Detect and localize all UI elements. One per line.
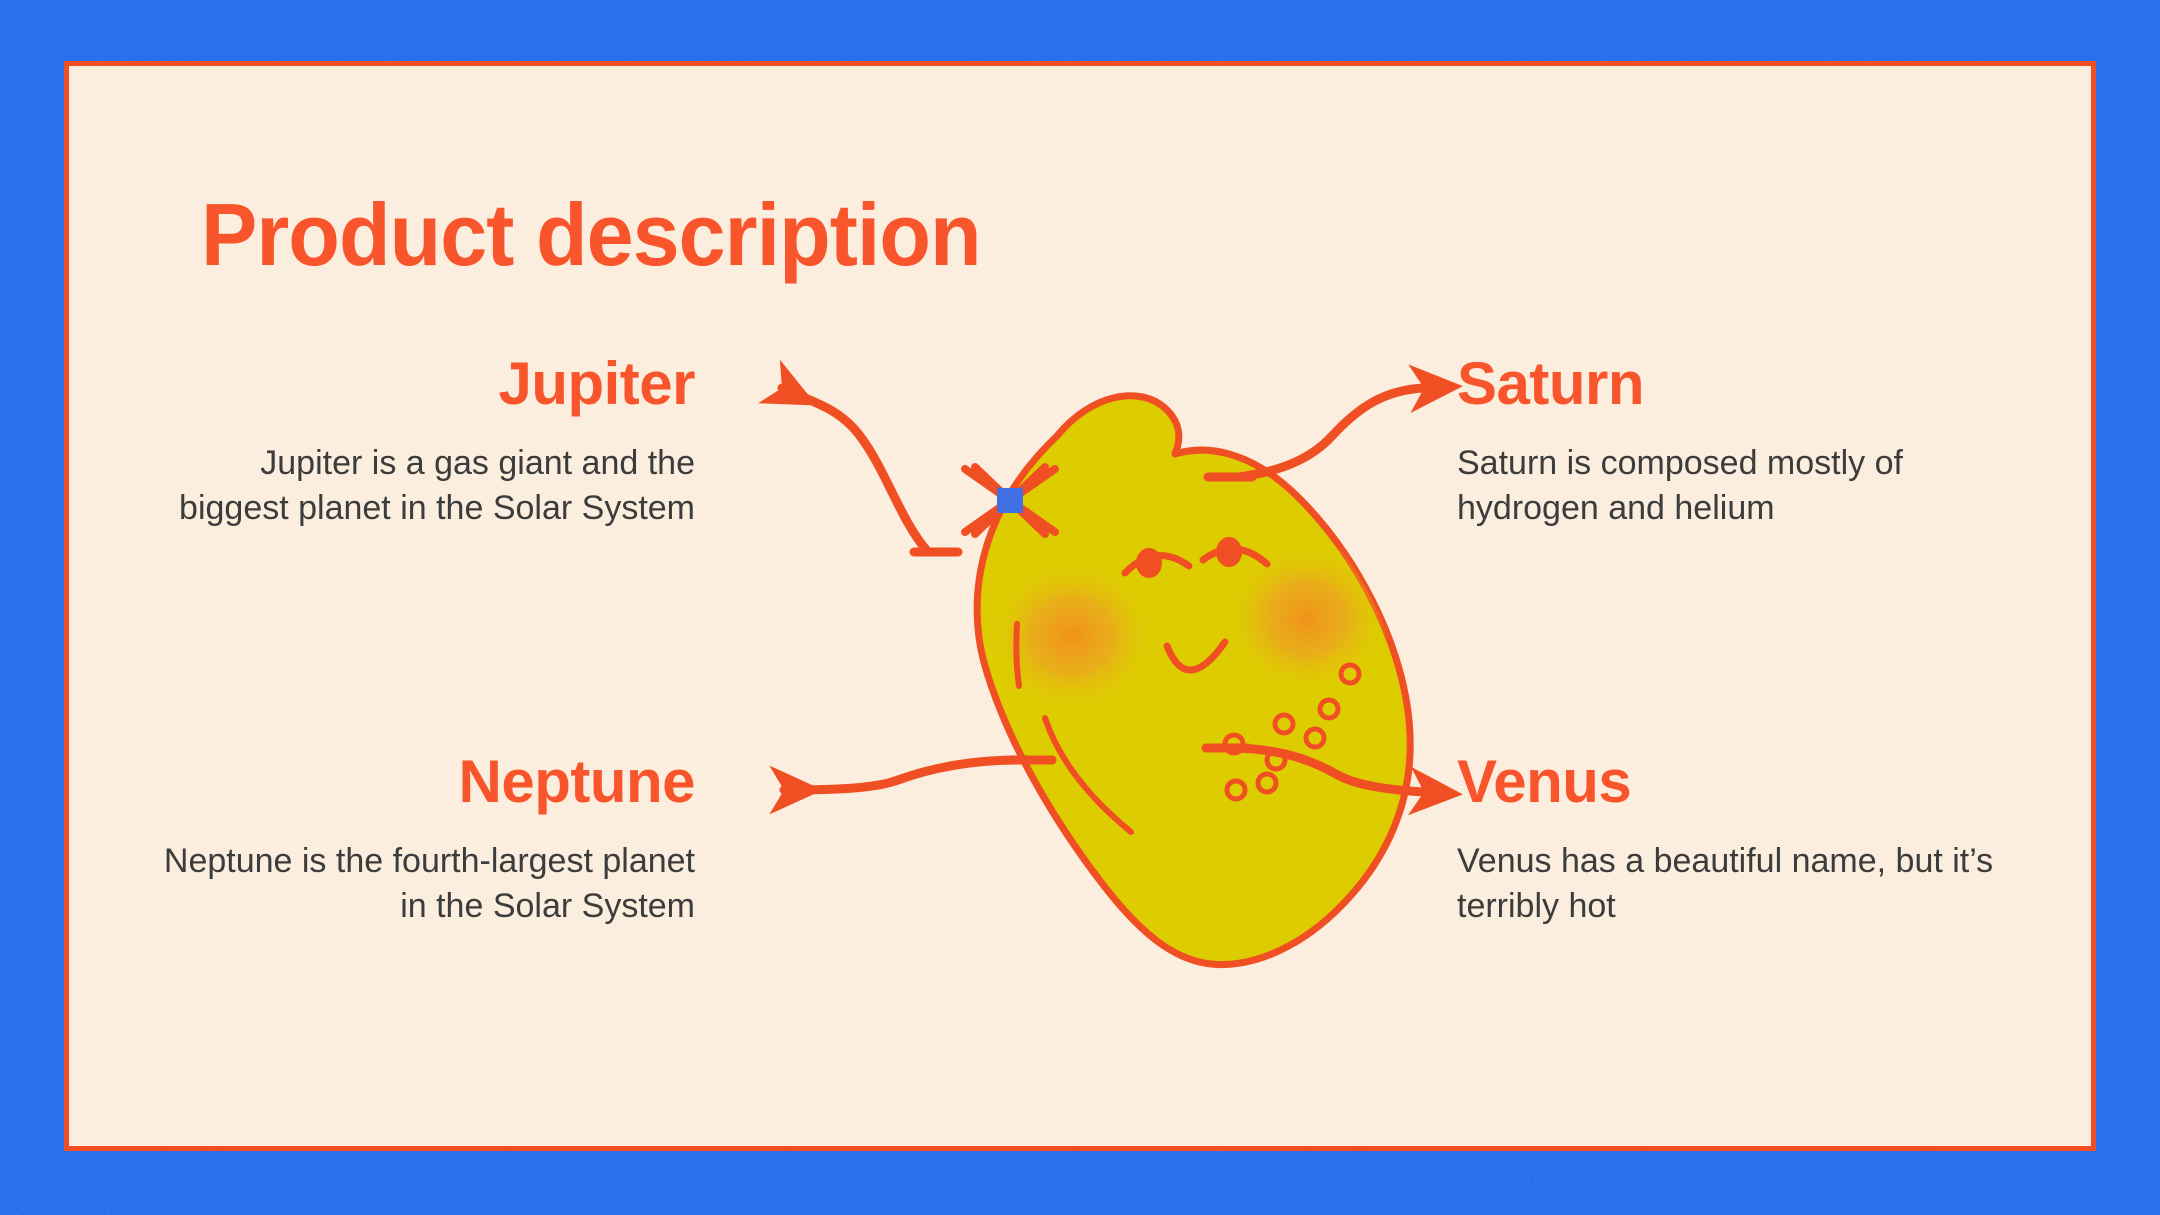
planet-description-neptune: Neptune is the fourth-largest planet in … [155,839,695,929]
page-title: Product description [201,184,981,286]
planet-block-jupiter: Jupiter Jupiter is a gas giant and the b… [155,352,695,531]
lemon-character-illustration [829,366,1569,1006]
slide-card: Product description Jupiter Jupiter is a… [64,61,2096,1151]
planet-name-neptune: Neptune [155,750,695,813]
planet-block-neptune: Neptune Neptune is the fourth-largest pl… [155,750,695,929]
planet-description-jupiter: Jupiter is a gas giant and the biggest p… [155,441,695,531]
lemon-crease-short [1016,624,1019,686]
planet-name-jupiter: Jupiter [155,352,695,415]
